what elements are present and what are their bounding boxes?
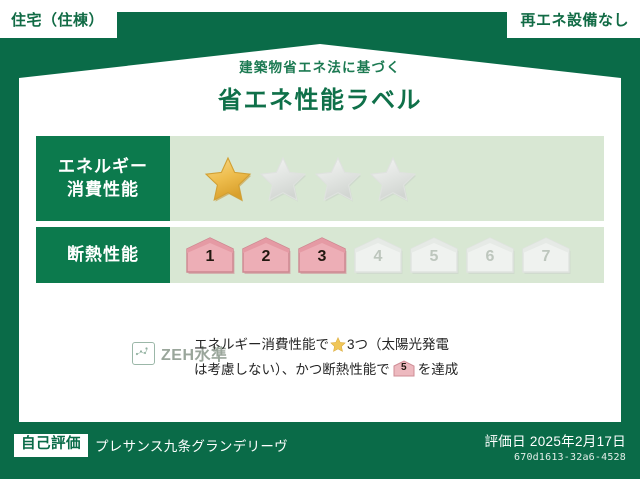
star-empty-icon	[314, 156, 362, 202]
house-grade-label: 3	[318, 249, 327, 275]
tag-renewable-energy-label: 再エネ設備なし	[520, 9, 629, 30]
document-id: 670d1613-32a6-4528	[484, 452, 626, 463]
zeh-description: エネルギー消費性能で3つ（太陽光発電は考慮しない）、かつ断熱性能で5を達成	[186, 332, 604, 381]
house-grade-3: 3	[296, 235, 348, 275]
zeh-desc-part3: は考慮しない）、かつ断熱性能で	[194, 362, 390, 377]
zeh-desc-part4: を達成	[418, 362, 459, 377]
zeh-dots-icon	[132, 342, 155, 365]
row-insulation-performance: 断熱性能 1234567	[36, 227, 604, 283]
row-insulation-performance-value: 1234567	[170, 227, 604, 283]
footer-left: 自己評価 プレサンス九条グランデリーヴ	[14, 434, 288, 457]
house-grade-2: 2	[240, 235, 292, 275]
zeh-mark: ZEH水準	[36, 332, 186, 365]
footer-right: 評価日 2025年2月17日 670d1613-32a6-4528	[484, 430, 626, 463]
tag-building-type: 住宅（住棟）	[0, 0, 117, 38]
star-icon	[330, 337, 346, 359]
energy-performance-label: 住宅（住棟） 再エネ設備なし 建築物省エネ法に基づく 省エネ性能ラベル エネルギ…	[0, 0, 640, 479]
star-empty-icon	[369, 156, 417, 202]
house-grade-6: 6	[464, 235, 516, 275]
page-title: 省エネ性能ラベル	[0, 80, 640, 115]
row-insulation-label-line1: 断熱性能	[67, 244, 139, 266]
building-name: プレサンス九条グランデリーヴ	[95, 435, 288, 455]
house-grade-5: 5	[408, 235, 460, 275]
house-grade-label: 7	[542, 249, 551, 275]
rating-rows: エネルギー 消費性能 断熱性能 1234567	[36, 136, 604, 289]
star-filled-icon	[204, 156, 252, 202]
row-energy-label-line1: エネルギー	[58, 156, 148, 178]
house-grade-7: 7	[520, 235, 572, 275]
house-badge-value: 5	[392, 360, 416, 376]
tag-renewable-energy: 再エネ設備なし	[507, 0, 640, 38]
zeh-desc-part1: エネルギー消費性能で	[194, 337, 329, 352]
house-grade-label: 6	[486, 249, 495, 275]
row-insulation-performance-label: 断熱性能	[36, 227, 170, 283]
row-energy-performance-label: エネルギー 消費性能	[36, 136, 170, 221]
tag-building-type-label: 住宅（住棟）	[11, 9, 104, 30]
self-evaluation-badge: 自己評価	[14, 434, 88, 457]
house-grade-label: 1	[206, 249, 215, 275]
house-badge-icon: 5	[392, 360, 416, 377]
house-grade-scale: 1234567	[184, 235, 572, 275]
zeh-note: ZEH水準 エネルギー消費性能で3つ（太陽光発電は考慮しない）、かつ断熱性能で5…	[36, 332, 604, 381]
row-energy-performance-value	[170, 136, 604, 221]
star-rating	[204, 156, 417, 202]
label-footer: 自己評価 プレサンス九条グランデリーヴ 評価日 2025年2月17日 670d1…	[0, 422, 640, 479]
house-grade-4: 4	[352, 235, 404, 275]
evaluation-date: 評価日 2025年2月17日	[484, 430, 626, 450]
house-grade-1: 1	[184, 235, 236, 275]
house-grade-label: 5	[430, 249, 439, 275]
house-grade-label: 2	[262, 249, 271, 275]
star-empty-icon	[259, 156, 307, 202]
house-grade-label: 4	[374, 249, 383, 275]
title-block: 建築物省エネ法に基づく 省エネ性能ラベル	[0, 56, 640, 115]
row-energy-label-line2: 消費性能	[67, 179, 139, 201]
row-energy-performance: エネルギー 消費性能	[36, 136, 604, 221]
zeh-desc-part2: 3つ（太陽光発電	[347, 337, 449, 352]
title-subtitle: 建築物省エネ法に基づく	[0, 56, 640, 76]
